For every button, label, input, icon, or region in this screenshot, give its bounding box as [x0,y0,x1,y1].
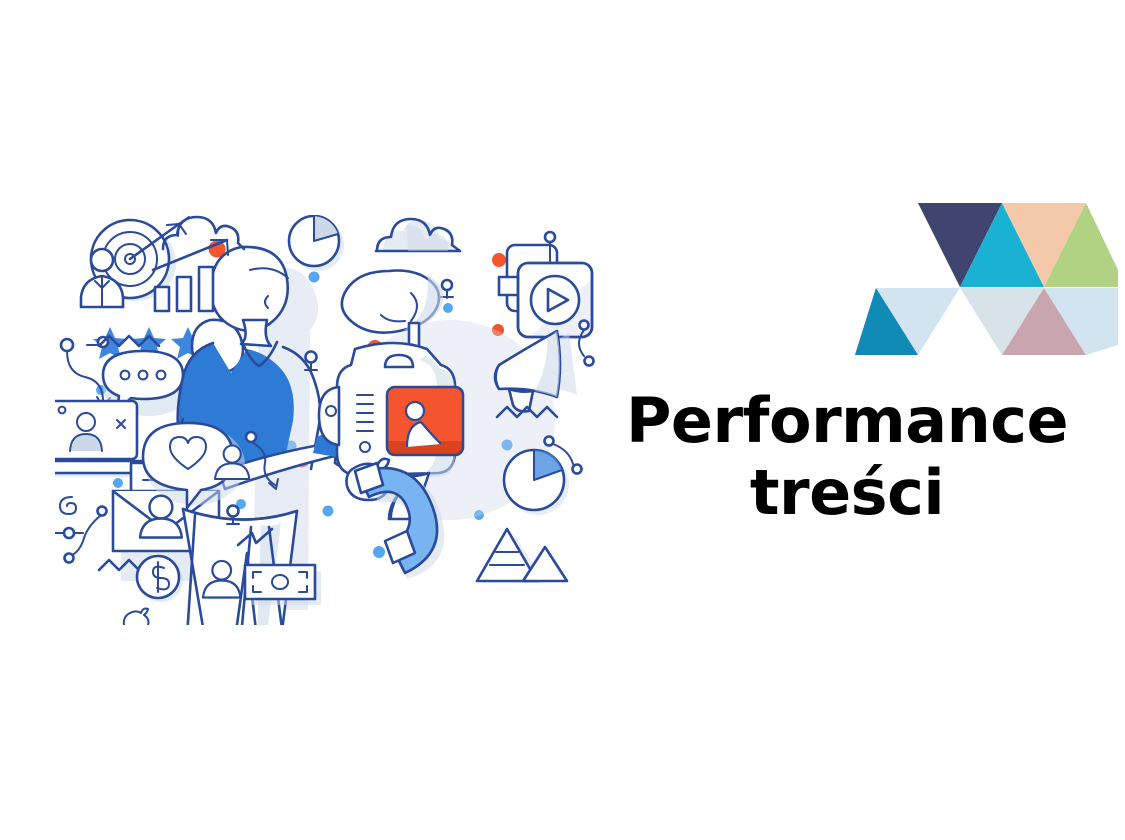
banknote-icon [245,565,321,605]
bird-icon-small [124,609,149,626]
slide-canvas: .ln { fill:none; stroke:#2A4B9B; stroke-… [0,0,1125,840]
pie-chart-icon [289,216,344,271]
title-line-2: treści [612,457,1082,529]
spiral-icon [60,497,76,514]
clock-pie-icon [504,450,569,515]
pyramid-chart-icon [477,529,567,583]
content-marketing-illustration: .ln { fill:none; stroke:#2A4B9B; stroke-… [55,215,600,625]
play-button-icon [499,232,592,337]
triangle-mosaic-logo [850,183,1122,355]
title-line-1: Performance [612,385,1082,457]
page-title: Performance treści [612,385,1082,529]
